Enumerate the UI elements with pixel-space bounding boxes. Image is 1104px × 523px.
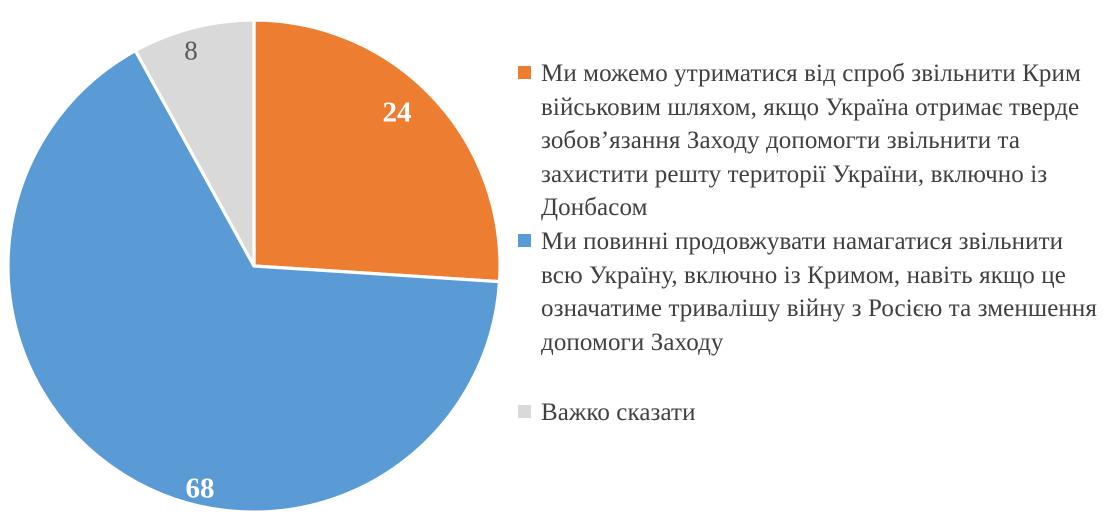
chart-legend: Ми можемо утриматися від спроб звільнити… [518, 0, 1104, 523]
legend-swatch-blue-icon [518, 234, 531, 247]
pie-chart-figure: 24 68 8 Ми можемо утриматися від спроб з… [0, 0, 1104, 523]
legend-item-gray[interactable]: Важко сказати [518, 396, 1098, 430]
legend-item-label: Ми повинні продовжувати намагатися звіль… [541, 225, 1098, 359]
pie-slice-orange[interactable] [254, 20, 500, 282]
legend-item-orange[interactable]: Ми можемо утриматися від спроб звільнити… [518, 57, 1098, 225]
pie-chart-svg [0, 0, 520, 523]
legend-item-label: Ми можемо утриматися від спроб звільнити… [541, 57, 1098, 225]
legend-item-label: Важко сказати [541, 396, 941, 430]
legend-item-blue[interactable]: Ми повинні продовжувати намагатися звіль… [518, 225, 1098, 359]
legend-swatch-orange-icon [518, 66, 531, 79]
legend-swatch-gray-icon [518, 405, 531, 418]
pie-chart-plot-area: 24 68 8 [0, 0, 520, 523]
